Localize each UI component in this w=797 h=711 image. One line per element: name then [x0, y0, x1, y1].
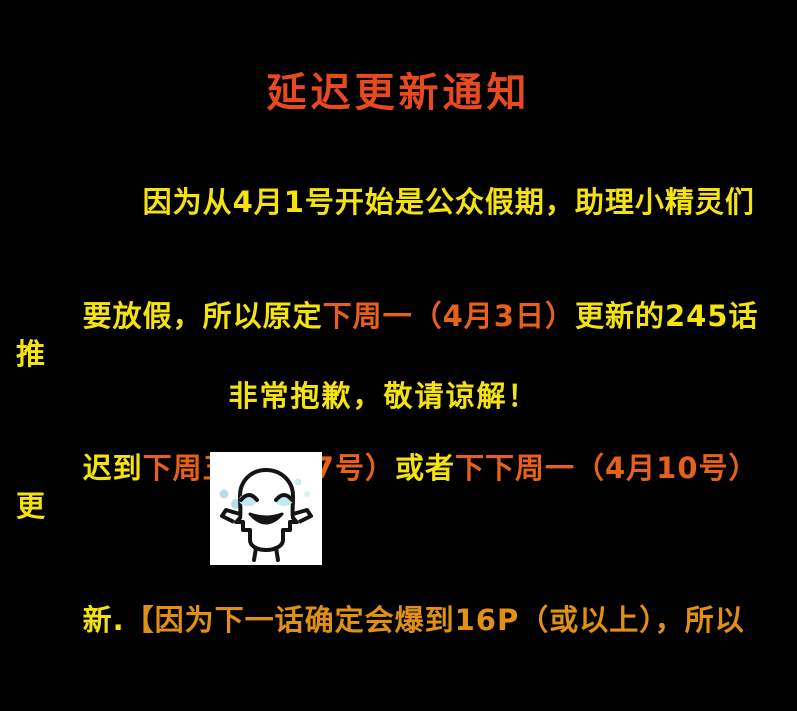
text-segment: 更: [16, 489, 46, 523]
text-segment: 新.: [83, 603, 125, 637]
text-segment-highlight: 下下周一（4月10号）: [455, 451, 759, 485]
apology-text: 非常抱歉，敬请谅解！: [0, 376, 797, 416]
text-segment: 迟到: [83, 451, 143, 485]
text-segment-note: 【因为下一话确定会爆到16P（或以上），所以: [125, 603, 745, 637]
notice-body: 因为从4月1号开始是公众假期，助理小精灵们 要放假，所以原定下周一（4月3日）更…: [16, 145, 781, 711]
ghost-figure-icon: [210, 452, 322, 565]
body-line: 因为从4月1号开始是公众假期，助理小精灵们: [16, 145, 781, 259]
text-segment: 或者: [395, 451, 455, 485]
body-line: 迟到下周五（4月7号）或者下下周一（4月10号）更: [16, 411, 781, 563]
crying-laughing-ghost-sticker: [210, 452, 322, 565]
text-segment: 因为从4月1号开始是公众假期，助理小精灵们: [83, 185, 755, 219]
body-line: 新.【因为下一话确定会爆到16P（或以上），所以: [16, 563, 781, 677]
page-title: 延迟更新通知: [0, 68, 797, 118]
text-segment-highlight: 下周一（4月3日）: [323, 299, 575, 333]
notice-page: 延迟更新通知 因为从4月1号开始是公众假期，助理小精灵们 要放假，所以原定下周一…: [0, 0, 797, 711]
text-segment: 要放假，所以原定: [83, 299, 323, 333]
body-line: 不确定能不能赶得上在周五之前画完orz】: [16, 677, 781, 711]
